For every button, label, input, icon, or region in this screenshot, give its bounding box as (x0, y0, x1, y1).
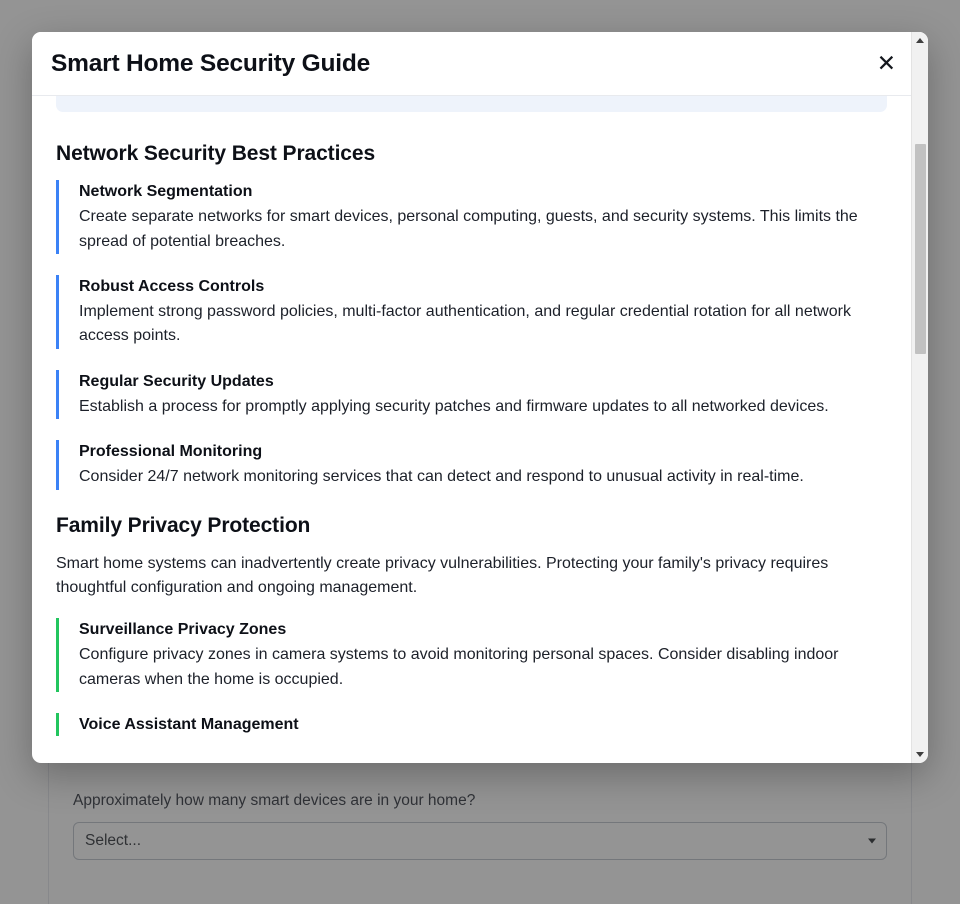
section-heading: Network Security Best Practices (56, 142, 887, 166)
modal-title: Smart Home Security Guide (51, 50, 370, 78)
scroll-up-arrow-icon[interactable] (912, 32, 928, 49)
close-icon[interactable]: ✕ (871, 48, 902, 79)
list-item: Network Segmentation Create separate net… (56, 180, 887, 254)
modal-header: Smart Home Security Guide ✕ (32, 32, 928, 96)
intro-callout (56, 96, 887, 112)
list-item: Professional Monitoring Consider 24/7 ne… (56, 440, 887, 490)
item-title: Network Segmentation (79, 180, 887, 203)
list-item: Robust Access Controls Implement strong … (56, 275, 887, 349)
item-text: Consider 24/7 network monitoring service… (79, 465, 887, 489)
item-text: Configure privacy zones in camera system… (79, 643, 887, 692)
item-title: Voice Assistant Management (79, 713, 887, 736)
item-title: Surveillance Privacy Zones (79, 618, 887, 641)
item-text: Create separate networks for smart devic… (79, 205, 887, 254)
item-title: Professional Monitoring (79, 440, 887, 463)
section-heading: Family Privacy Protection (56, 514, 887, 538)
list-item: Regular Security Updates Establish a pro… (56, 370, 887, 420)
modal-scroll-content: Network Security Best Practices Network … (32, 96, 911, 763)
section-intro: Smart home systems can inadvertently cre… (56, 552, 887, 601)
scrollbar-thumb[interactable] (915, 144, 926, 354)
item-title: Regular Security Updates (79, 370, 887, 393)
section-network-security: Network Security Best Practices Network … (56, 142, 887, 490)
item-text: Establish a process for promptly applyin… (79, 395, 887, 419)
modal-scrollbar[interactable] (911, 96, 928, 763)
smart-home-security-guide-modal: Smart Home Security Guide ✕ Network Secu… (32, 32, 928, 763)
item-title: Robust Access Controls (79, 275, 887, 298)
modal-body-wrap: Network Security Best Practices Network … (32, 96, 928, 763)
item-text: Implement strong password policies, mult… (79, 300, 887, 349)
section-family-privacy: Family Privacy Protection Smart home sys… (56, 514, 887, 737)
list-item: Surveillance Privacy Zones Configure pri… (56, 618, 887, 692)
scroll-down-arrow-icon[interactable] (912, 746, 928, 763)
list-item: Voice Assistant Management (56, 713, 887, 736)
